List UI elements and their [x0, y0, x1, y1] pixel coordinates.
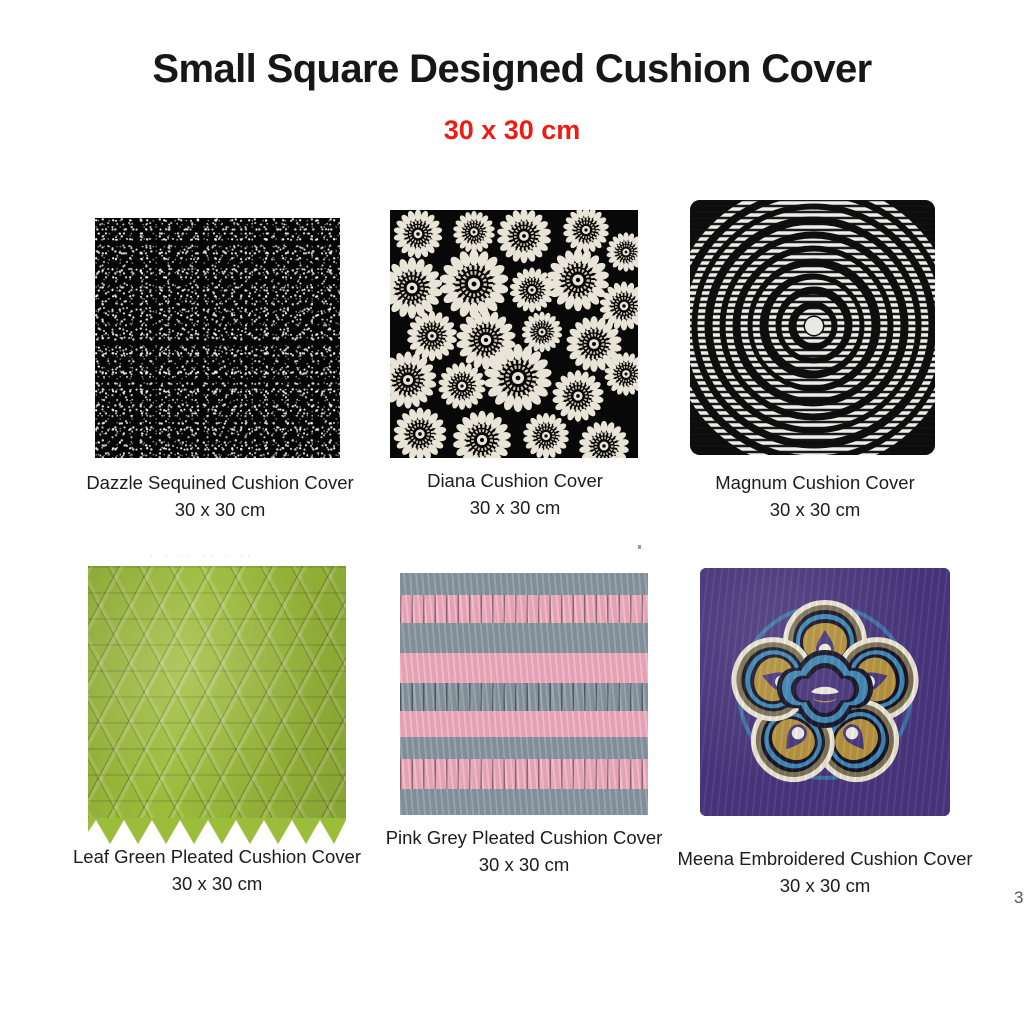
- meena-flower-svg: [700, 568, 950, 816]
- product-size-pink-grey-pleated: 30 x 30 cm: [386, 852, 663, 879]
- band-pink-pleated-1: [400, 595, 648, 623]
- band-grey-pleated-1: [400, 683, 648, 711]
- product-caption-pink-grey-pleated: Pink Grey Pleated Cushion Cover 30 x 30 …: [386, 825, 663, 879]
- band-pink-1: [400, 653, 648, 683]
- faint-watermark: · · ·· ·· · ··: [150, 552, 255, 561]
- product-card-meena-embroidered[interactable]: Meena Embroidered Cushion Cover 30 x 30 …: [700, 568, 950, 816]
- product-caption-meena-embroidered: Meena Embroidered Cushion Cover 30 x 30 …: [677, 846, 972, 900]
- product-name-diana: Diana Cushion Cover: [427, 470, 603, 491]
- product-card-dazzle-sequined[interactable]: Dazzle Sequined Cushion Cover 30 x 30 cm: [95, 218, 345, 458]
- product-name-meena-embroidered: Meena Embroidered Cushion Cover: [677, 848, 972, 869]
- product-card-magnum[interactable]: Magnum Cushion Cover 30 x 30 cm: [690, 200, 940, 455]
- product-image-leaf-green-pleated[interactable]: [88, 566, 346, 818]
- band-grey-2: [400, 623, 648, 653]
- page-title: Small Square Designed Cushion Cover: [0, 48, 1024, 90]
- product-card-leaf-green-pleated[interactable]: · · ·· ·· · ·· Leaf Green Pleated Cushio…: [88, 566, 346, 818]
- product-caption-magnum: Magnum Cushion Cover 30 x 30 cm: [715, 470, 914, 524]
- product-size-dazzle-sequined: 30 x 30 cm: [86, 497, 353, 524]
- product-image-dazzle-sequined[interactable]: [95, 218, 340, 458]
- edge-clipped-character: 3: [1014, 888, 1024, 910]
- product-image-meena-embroidered[interactable]: [700, 568, 950, 816]
- product-name-leaf-green-pleated: Leaf Green Pleated Cushion Cover: [73, 846, 361, 867]
- band-grey-4: [400, 789, 648, 815]
- product-size-diana: 30 x 30 cm: [427, 495, 603, 522]
- product-name-dazzle-sequined: Dazzle Sequined Cushion Cover: [86, 472, 353, 493]
- band-grey-3: [400, 737, 648, 759]
- band-grey-1: [400, 573, 648, 595]
- magnum-pattern-svg: [690, 200, 935, 455]
- diana-pattern-svg: [390, 210, 638, 458]
- product-size-meena-embroidered: 30 x 30 cm: [677, 873, 972, 900]
- page-subtitle-size: 30 x 30 cm: [0, 115, 1024, 146]
- product-card-pink-grey-pleated[interactable]: Pink Grey Pleated Cushion Cover 30 x 30 …: [400, 573, 648, 815]
- product-caption-dazzle-sequined: Dazzle Sequined Cushion Cover 30 x 30 cm: [86, 470, 353, 524]
- product-image-pink-grey-pleated[interactable]: [400, 573, 648, 815]
- product-name-pink-grey-pleated: Pink Grey Pleated Cushion Cover: [386, 827, 663, 848]
- product-card-diana[interactable]: Diana Cushion Cover 30 x 30 cm: [390, 210, 640, 458]
- product-size-leaf-green-pleated: 30 x 30 cm: [73, 871, 361, 898]
- product-caption-leaf-green-pleated: Leaf Green Pleated Cushion Cover 30 x 30…: [73, 844, 361, 898]
- product-name-magnum: Magnum Cushion Cover: [715, 472, 914, 493]
- product-caption-diana: Diana Cushion Cover 30 x 30 cm: [427, 468, 603, 522]
- product-image-diana[interactable]: [390, 210, 638, 458]
- image-speck-artifact: [638, 545, 641, 549]
- product-image-magnum[interactable]: [690, 200, 935, 455]
- band-pink-pleated-2: [400, 759, 648, 789]
- product-size-magnum: 30 x 30 cm: [715, 497, 914, 524]
- fabric-shading: [88, 566, 346, 818]
- band-pink-2: [400, 711, 648, 737]
